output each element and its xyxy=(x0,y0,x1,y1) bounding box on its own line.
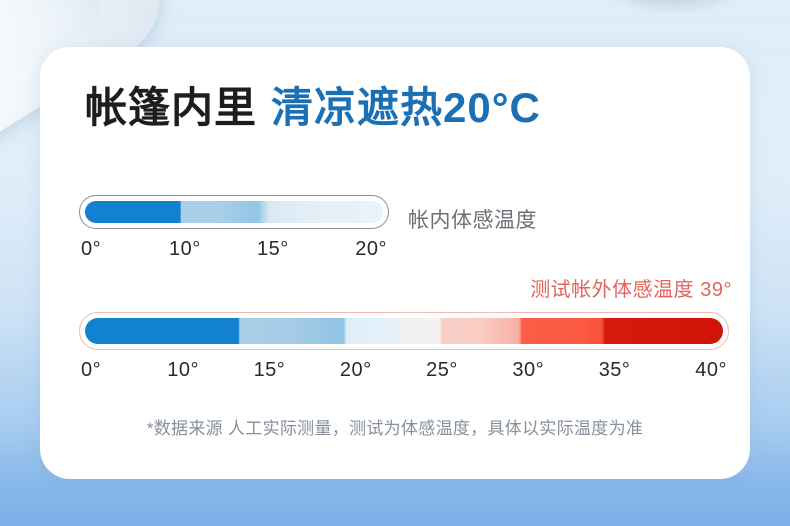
inner-tick-2: 15° xyxy=(257,238,345,261)
outer-temperature-bar-fill xyxy=(85,318,723,344)
inner-tick-1: 10° xyxy=(169,238,257,261)
outer-tick-6: 35° xyxy=(599,359,685,382)
outer-temperature-tick-row: 0° 10° 15° 20° 25° 30° 35° 40° xyxy=(79,359,729,382)
inner-tick-0: 0° xyxy=(81,238,169,261)
arc-shadow-decoration xyxy=(578,0,768,14)
inner-temperature-chart: 0° 10° 15° 20° xyxy=(79,195,389,261)
outer-tick-4: 25° xyxy=(426,359,512,382)
outer-temperature-bar-track xyxy=(79,312,729,350)
data-source-footnote: *数据来源 人工实际测量，测试为体感温度，具体以实际温度为准 xyxy=(40,414,750,439)
content-card: 帐篷内里清凉遮热20°C 0° 10° 15° 20° 帐内体感温度 测试帐外体… xyxy=(40,47,750,479)
outer-tick-1: 10° xyxy=(167,359,253,382)
outer-tick-0: 0° xyxy=(81,359,167,382)
page-title-accent: 清凉遮热20°C xyxy=(271,84,541,131)
inner-temperature-tick-row: 0° 10° 15° 20° xyxy=(79,238,389,261)
inner-tick-3: 20° xyxy=(345,238,387,261)
page-title: 帐篷内里清凉遮热20°C xyxy=(85,87,541,129)
promo-page: 帐篷内里清凉遮热20°C 0° 10° 15° 20° 帐内体感温度 测试帐外体… xyxy=(0,0,790,526)
outer-temperature-chart: 0° 10° 15° 20° 25° 30° 35° 40° xyxy=(79,312,729,382)
outer-temperature-measure-label: 测试帐外体感温度 39° xyxy=(530,273,732,302)
inner-temperature-bar-fill xyxy=(85,201,383,223)
inner-temperature-bar-track xyxy=(79,195,389,229)
outer-tick-5: 30° xyxy=(512,359,598,382)
page-title-prefix: 帐篷内里 xyxy=(85,84,257,131)
outer-tick-3: 20° xyxy=(340,359,426,382)
outer-tick-2: 15° xyxy=(254,359,340,382)
outer-tick-7: 40° xyxy=(685,359,727,382)
inner-temperature-label: 帐内体感温度 xyxy=(408,204,537,234)
